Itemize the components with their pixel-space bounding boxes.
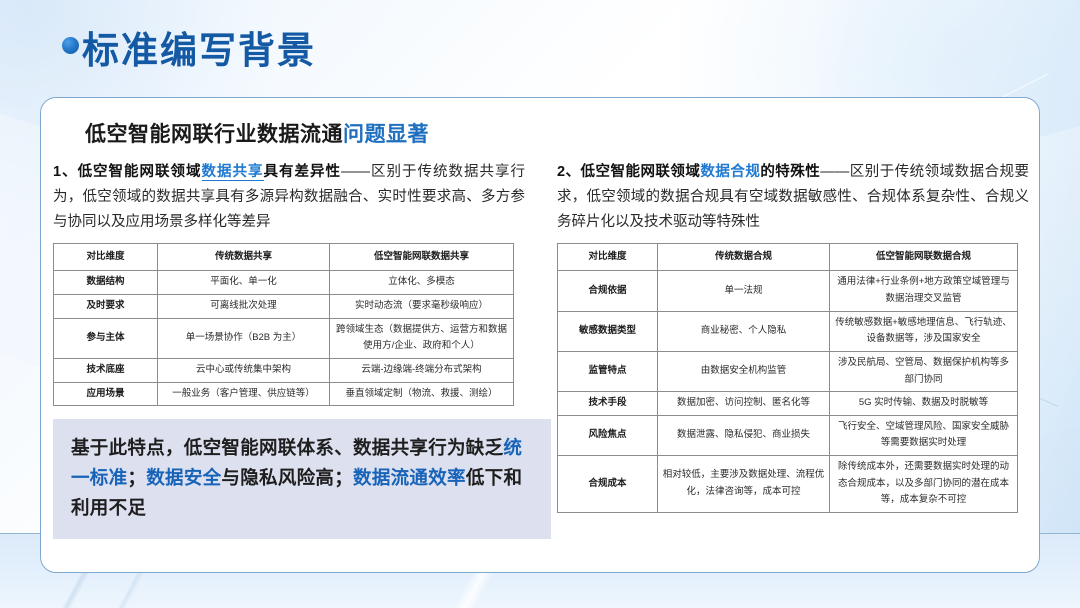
right-row2-dim: 监管特点 — [558, 351, 658, 391]
table-row: 及时要求 可离线批次处理 实时动态流（要求毫秒级响应） — [54, 295, 514, 319]
left-row4-trad: 一般业务（客户管理、供应链等） — [158, 382, 330, 406]
right-para-index: 2、 — [557, 164, 581, 180]
left-row0-dim: 数据结构 — [54, 271, 158, 295]
conclusion-seg-4: 数据安全 — [146, 467, 221, 488]
right-comparison-table: 对比维度 传统数据合规 低空智能网联数据合规 合规依据 单一法规 通用法律+行业… — [557, 243, 1018, 513]
table-row: 监管特点 由数据安全机构监管 涉及民航局、空管局、数据保护机构等多部门协同 — [558, 351, 1018, 391]
bullet-dot-icon — [62, 37, 79, 54]
right-para-lead-after: 的特殊性 — [760, 164, 820, 180]
right-row2-low: 涉及民航局、空管局、数据保护机构等多部门协同 — [830, 351, 1018, 391]
left-row2-trad: 单一场景协作（B2B 为主） — [158, 318, 330, 358]
table-row: 数据结构 平面化、单一化 立体化、多模态 — [54, 271, 514, 295]
left-row3-trad: 云中心或传统集中架构 — [158, 358, 330, 382]
table-row: 风险焦点 数据泄露、隐私侵犯、商业损失 飞行安全、空域管理风险、国家安全威胁等需… — [558, 415, 1018, 455]
right-row0-low: 通用法律+行业条例+地方政策空域管理与数据治理交叉监管 — [830, 271, 1018, 311]
conclusion-seg-5: 与隐私风险高； — [221, 467, 353, 488]
left-row0-trad: 平面化、单一化 — [158, 271, 330, 295]
left-row4-low: 垂直领域定制（物流、救援、测绘） — [330, 382, 514, 406]
left-paragraph: 1、低空智能网联领域数据共享具有差异性——区别于传统数据共享行为，低空领域的数据… — [53, 160, 525, 235]
left-para-index: 1、 — [53, 164, 78, 180]
column-right: 2、低空智能网联领域数据合规的特殊性——区别于传统领域数据合规要求，低空领域的数… — [541, 160, 1041, 539]
card-title: 低空智能网联行业数据流通问题显著 — [85, 118, 429, 148]
right-row1-dim: 敏感数据类型 — [558, 311, 658, 351]
table-row: 合规成本 相对较低，主要涉及数据处理、流程优化，法律咨询等，成本可控 除传统成本… — [558, 456, 1018, 513]
left-th-0: 对比维度 — [54, 243, 158, 271]
right-th-1: 传统数据合规 — [658, 243, 830, 271]
right-paragraph: 2、低空智能网联领域数据合规的特殊性——区别于传统领域数据合规要求，低空领域的数… — [557, 160, 1029, 235]
left-row1-trad: 可离线批次处理 — [158, 295, 330, 319]
right-row0-dim: 合规依据 — [558, 271, 658, 311]
table-row: 应用场景 一般业务（客户管理、供应链等） 垂直领域定制（物流、救援、测绘） — [54, 382, 514, 406]
slide-header: 标准编写背景 — [62, 32, 316, 71]
conclusion-seg-3: ； — [127, 467, 146, 488]
right-para-lead-before: 低空智能网联领域 — [581, 164, 701, 180]
two-column-body: 1、低空智能网联领域数据共享具有差异性——区别于传统数据共享行为，低空领域的数据… — [41, 160, 1041, 539]
left-para-dash: —— — [341, 164, 370, 180]
left-row3-dim: 技术底座 — [54, 358, 158, 382]
left-comparison-table: 对比维度 传统数据共享 低空智能网联数据共享 数据结构 平面化、单一化 立体化、… — [53, 243, 514, 406]
right-row2-trad: 由数据安全机构监管 — [658, 351, 830, 391]
right-row5-dim: 合规成本 — [558, 456, 658, 513]
right-para-highlight: 数据合规 — [700, 164, 760, 180]
conclusion-callout: 基于此特点，低空智能网联体系、数据共享行为缺乏统一标准；数据安全与隐私风险高；数… — [53, 419, 551, 539]
table-row: 技术底座 云中心或传统集中架构 云端-边缘端-终端分布式架构 — [54, 358, 514, 382]
left-row3-low: 云端-边缘端-终端分布式架构 — [330, 358, 514, 382]
left-row4-dim: 应用场景 — [54, 382, 158, 406]
conclusion-seg-6: 数据流通效率 — [353, 467, 466, 488]
column-left: 1、低空智能网联领域数据共享具有差异性——区别于传统数据共享行为，低空领域的数据… — [41, 160, 541, 539]
left-th-2: 低空智能网联数据共享 — [330, 243, 514, 271]
left-para-highlight: 数据共享 — [202, 164, 264, 181]
left-th-1: 传统数据共享 — [158, 243, 330, 271]
left-para-lead-before: 低空智能网联领域 — [78, 164, 202, 180]
table-row: 技术手段 数据加密、访问控制、匿名化等 5G 实时传输、数据及时脱敏等 — [558, 392, 1018, 416]
right-row3-low: 5G 实时传输、数据及时脱敏等 — [830, 392, 1018, 416]
left-row1-dim: 及时要求 — [54, 295, 158, 319]
right-para-dash: —— — [820, 164, 849, 180]
right-row0-trad: 单一法规 — [658, 271, 830, 311]
right-row4-trad: 数据泄露、隐私侵犯、商业损失 — [658, 415, 830, 455]
right-row4-low: 飞行安全、空域管理风险、国家安全威胁等需要数据实时处理 — [830, 415, 1018, 455]
table-row: 敏感数据类型 商业秘密、个人隐私 传统敏感数据+敏感地理信息、飞行轨迹、设备数据… — [558, 311, 1018, 351]
right-row5-low: 除传统成本外，还需要数据实时处理的动态合规成本，以及多部门协同的潜在成本等，成本… — [830, 456, 1018, 513]
right-row5-trad: 相对较低，主要涉及数据处理、流程优化，法律咨询等，成本可控 — [658, 456, 830, 513]
card-title-plain: 低空智能网联行业数据流通 — [85, 123, 343, 146]
table-header-row: 对比维度 传统数据共享 低空智能网联数据共享 — [54, 243, 514, 271]
right-row1-trad: 商业秘密、个人隐私 — [658, 311, 830, 351]
right-th-2: 低空智能网联数据合规 — [830, 243, 1018, 271]
right-row3-dim: 技术手段 — [558, 392, 658, 416]
page-title: 标准编写背景 — [82, 32, 316, 71]
conclusion-seg-1: 基于此特点，低空智能网联体系、数据共享行为缺乏 — [71, 437, 503, 458]
left-row2-dim: 参与主体 — [54, 318, 158, 358]
left-row1-low: 实时动态流（要求毫秒级响应） — [330, 295, 514, 319]
right-row1-low: 传统敏感数据+敏感地理信息、飞行轨迹、设备数据等，涉及国家安全 — [830, 311, 1018, 351]
left-row2-low: 跨领域生态（数据提供方、运营方和数据使用方/企业、政府和个人） — [330, 318, 514, 358]
left-row0-low: 立体化、多模态 — [330, 271, 514, 295]
table-header-row: 对比维度 传统数据合规 低空智能网联数据合规 — [558, 243, 1018, 271]
right-row4-dim: 风险焦点 — [558, 415, 658, 455]
table-row: 参与主体 单一场景协作（B2B 为主） 跨领域生态（数据提供方、运营方和数据使用… — [54, 318, 514, 358]
content-card: 低空智能网联行业数据流通问题显著 1、低空智能网联领域数据共享具有差异性——区别… — [40, 97, 1040, 573]
card-title-accent: 问题显著 — [343, 123, 429, 146]
left-para-lead-after: 具有差异性 — [264, 164, 342, 180]
right-th-0: 对比维度 — [558, 243, 658, 271]
table-row: 合规依据 单一法规 通用法律+行业条例+地方政策空域管理与数据治理交叉监管 — [558, 271, 1018, 311]
right-row3-trad: 数据加密、访问控制、匿名化等 — [658, 392, 830, 416]
slide-canvas: 标准编写背景 低空智能网联行业数据流通问题显著 1、低空智能网联领域数据共享具有… — [0, 0, 1080, 608]
